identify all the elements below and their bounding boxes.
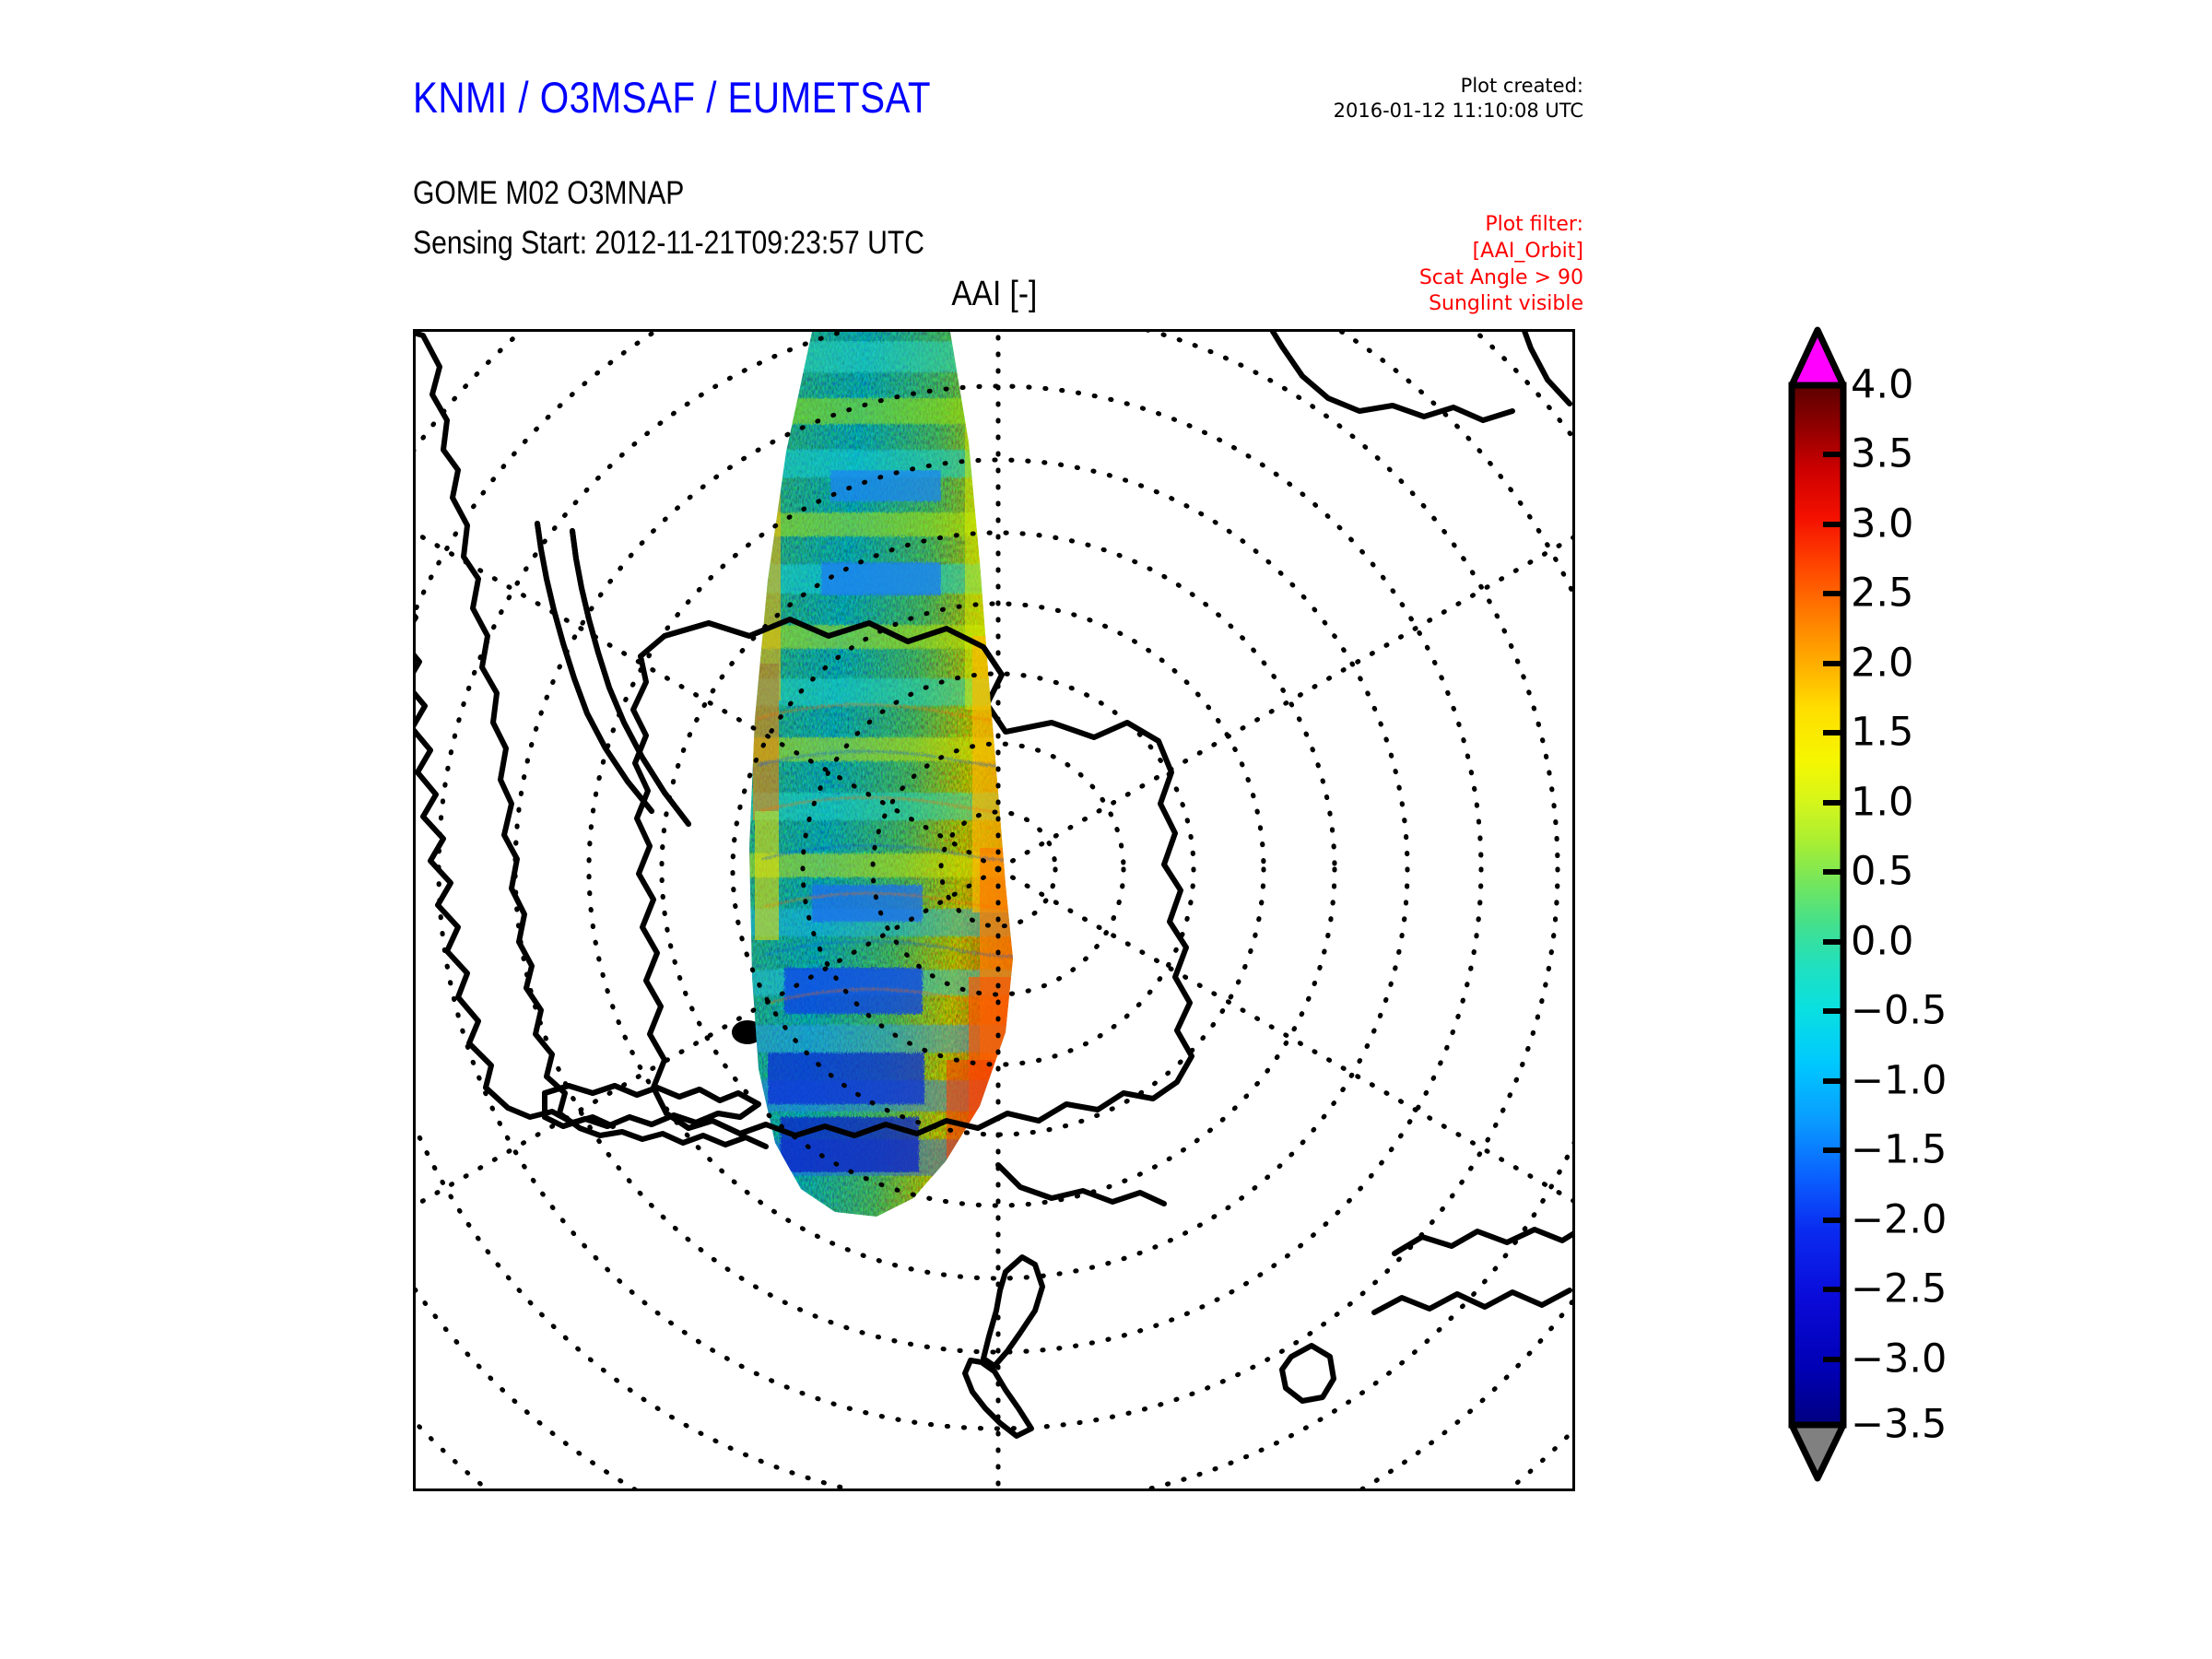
organisation-title: KNMI / O3MSAF / EUMETSAT (413, 72, 931, 123)
plot-created-block: Plot created: 2016-01-12 11:10:08 UTC (1334, 74, 1583, 124)
colorbar-tick-label: −1.0 (1851, 1062, 1947, 1101)
coastline-ross-sea (998, 1165, 1164, 1204)
coastline-new-zealand-north (983, 1257, 1042, 1366)
map-plot-area[interactable] (413, 329, 1575, 1491)
colorbar-over-arrow (1792, 330, 1843, 385)
coastline-tasmania (1282, 1346, 1334, 1401)
plot-filter-name: [AAI_Orbit] (1419, 239, 1583, 265)
plot-created-label: Plot created: (1334, 74, 1583, 99)
coastline-australia (1394, 1226, 1572, 1253)
coastline-africa (1262, 332, 1512, 420)
colorbar-tick-label: −1.5 (1851, 1131, 1947, 1171)
colorbar-tick-label: 2.0 (1851, 644, 1913, 684)
coastline-africa-east (1518, 332, 1570, 404)
colorbar-tick-label: 1.0 (1851, 783, 1913, 823)
colorbar-tick-label: −2.5 (1851, 1270, 1947, 1310)
sensing-start-line: Sensing Start: 2012-11-21T09:23:57 UTC (413, 225, 924, 262)
colorbar[interactable]: 4.0 3.5 3.0 2.5 2.0 1.5 1.0 0.5 0.0 −0.5… (1788, 323, 2175, 1484)
colorbar-tick-label: 4.0 (1851, 366, 1913, 406)
aai-swath (729, 332, 1042, 1244)
colorbar-under-arrow (1792, 1425, 1843, 1478)
colorbar-tick-label: −0.5 (1851, 992, 1947, 1031)
plot-filter-label: Plot filter: (1419, 212, 1583, 239)
coastline-antarctic-peninsula-east (572, 531, 688, 824)
axes-title-text: AAI [-] (951, 275, 1037, 314)
colorbar-tick-label: −3.5 (1851, 1406, 1947, 1445)
colorbar-gradient-body (1792, 385, 1843, 1425)
colorbar-tick-label: 2.5 (1851, 574, 1913, 614)
colorbar-tick-label: 0.5 (1851, 853, 1913, 892)
map-canvas (416, 332, 1572, 1488)
colorbar-tick-label: 1.5 (1851, 713, 1913, 753)
colorbar-tick-label: 0.0 (1851, 923, 1913, 962)
colorbar-tick-label: −2.0 (1851, 1201, 1947, 1241)
plot-created-timestamp: 2016-01-12 11:10:08 UTC (1334, 99, 1583, 124)
colorbar-tick-label: 3.5 (1851, 435, 1913, 475)
page-title: AAI [-] (413, 275, 1575, 314)
instrument-product-line: GOME M02 O3MNAP (413, 175, 684, 212)
colorbar-tick-label: 3.0 (1851, 505, 1913, 545)
colorbar-tick-label: −3.0 (1851, 1340, 1947, 1380)
coastline-south-america (416, 332, 766, 1147)
